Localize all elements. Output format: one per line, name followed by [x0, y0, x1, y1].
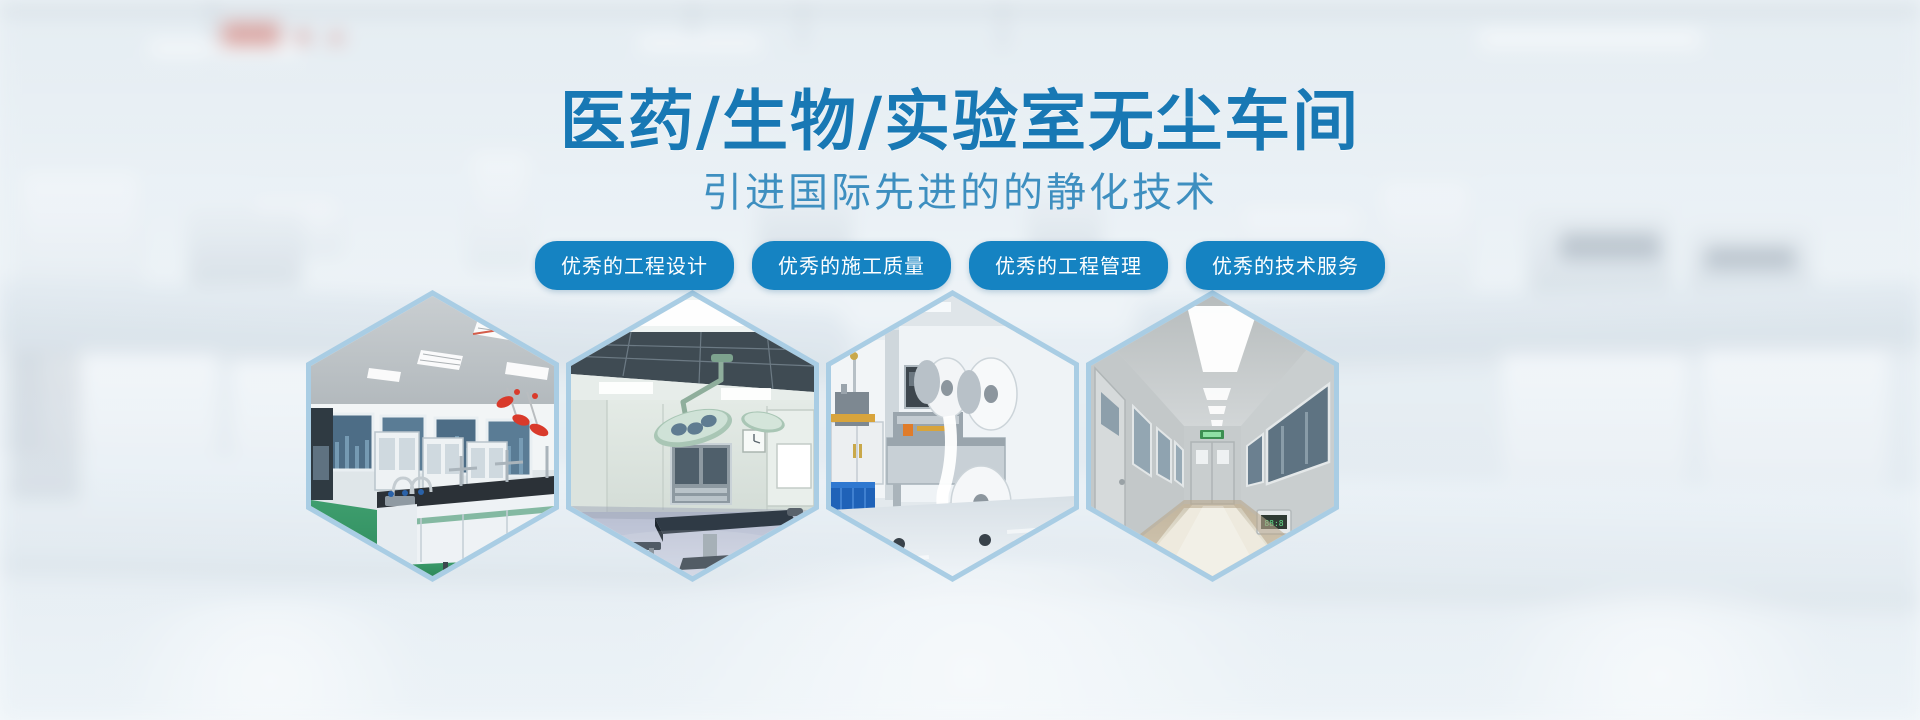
feature-badge-project-management[interactable]: 优秀的工程管理	[969, 241, 1168, 290]
headline-block: 医药/生物/实验室无尘车间 引进国际先进的的静化技术 优秀的工程设计 优秀的施工…	[0, 0, 1920, 290]
hexagon-image-operating-room[interactable]	[566, 290, 819, 582]
hero-banner: 88:8 医药/生物/实验室无尘车间 引进国际先进的的静化技术 优秀的工程设计 …	[0, 0, 1920, 720]
hexagon-gallery: 88:8	[0, 290, 1920, 590]
hexagon-image-laboratory-room[interactable]	[306, 290, 559, 582]
hexagon-image-cleanroom-corridor[interactable]: 88:8	[1086, 290, 1339, 582]
page-subtitle: 引进国际先进的的静化技术	[0, 169, 1920, 217]
hexagon-image-production-workshop[interactable]	[826, 290, 1079, 582]
feature-badge-technical-service[interactable]: 优秀的技术服务	[1186, 241, 1385, 290]
feature-badge-engineering-design[interactable]: 优秀的工程设计	[535, 241, 734, 290]
feature-badge-construction-quality[interactable]: 优秀的施工质量	[752, 241, 951, 290]
feature-badge-list: 优秀的工程设计 优秀的施工质量 优秀的工程管理 优秀的技术服务	[0, 241, 1920, 290]
page-title: 医药/生物/实验室无尘车间	[0, 86, 1920, 157]
